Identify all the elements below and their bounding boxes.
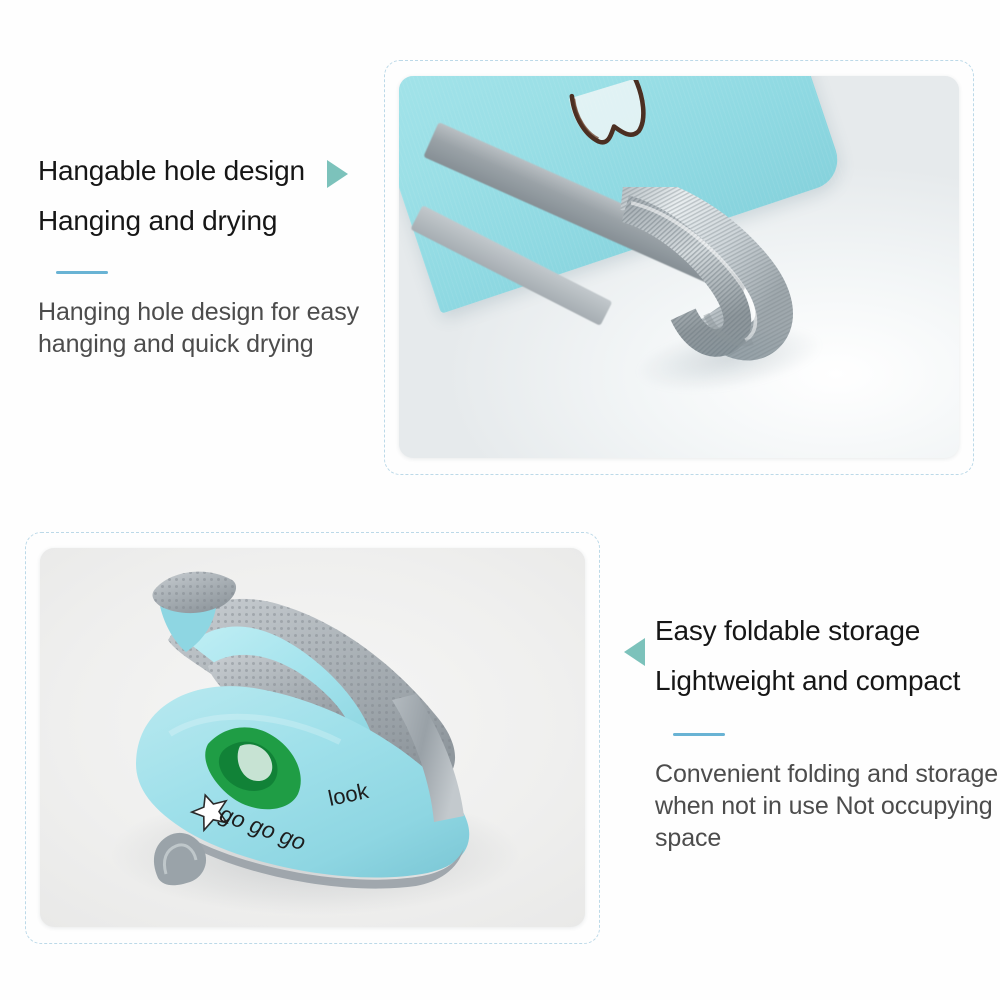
infographic-canvas: Hangable hole design Hanging and drying … — [0, 0, 1000, 1000]
feature-body-text: Convenient folding and storage when not … — [655, 758, 1000, 854]
feature-body-text: Hanging hole design for easy hanging and… — [38, 296, 378, 360]
feature-text-foldable-storage: Easy foldable storage Lightweight and co… — [655, 617, 1000, 854]
triangle-right-icon — [327, 160, 348, 188]
feature-headline-primary: Easy foldable storage — [655, 617, 1000, 645]
feature-headline-secondary: Hanging and drying — [38, 207, 378, 235]
shark-outline-icon — [545, 80, 685, 179]
hanging-strap-photo — [399, 76, 959, 458]
triangle-left-icon — [624, 638, 645, 666]
feature-headline-secondary: Lightweight and compact — [655, 667, 1000, 695]
folded-product-photo: go go go look — [40, 548, 585, 927]
folded-bath-cushion: go go go look — [40, 548, 585, 927]
feature-divider-rule — [56, 271, 108, 274]
feature-divider-rule — [673, 733, 725, 736]
